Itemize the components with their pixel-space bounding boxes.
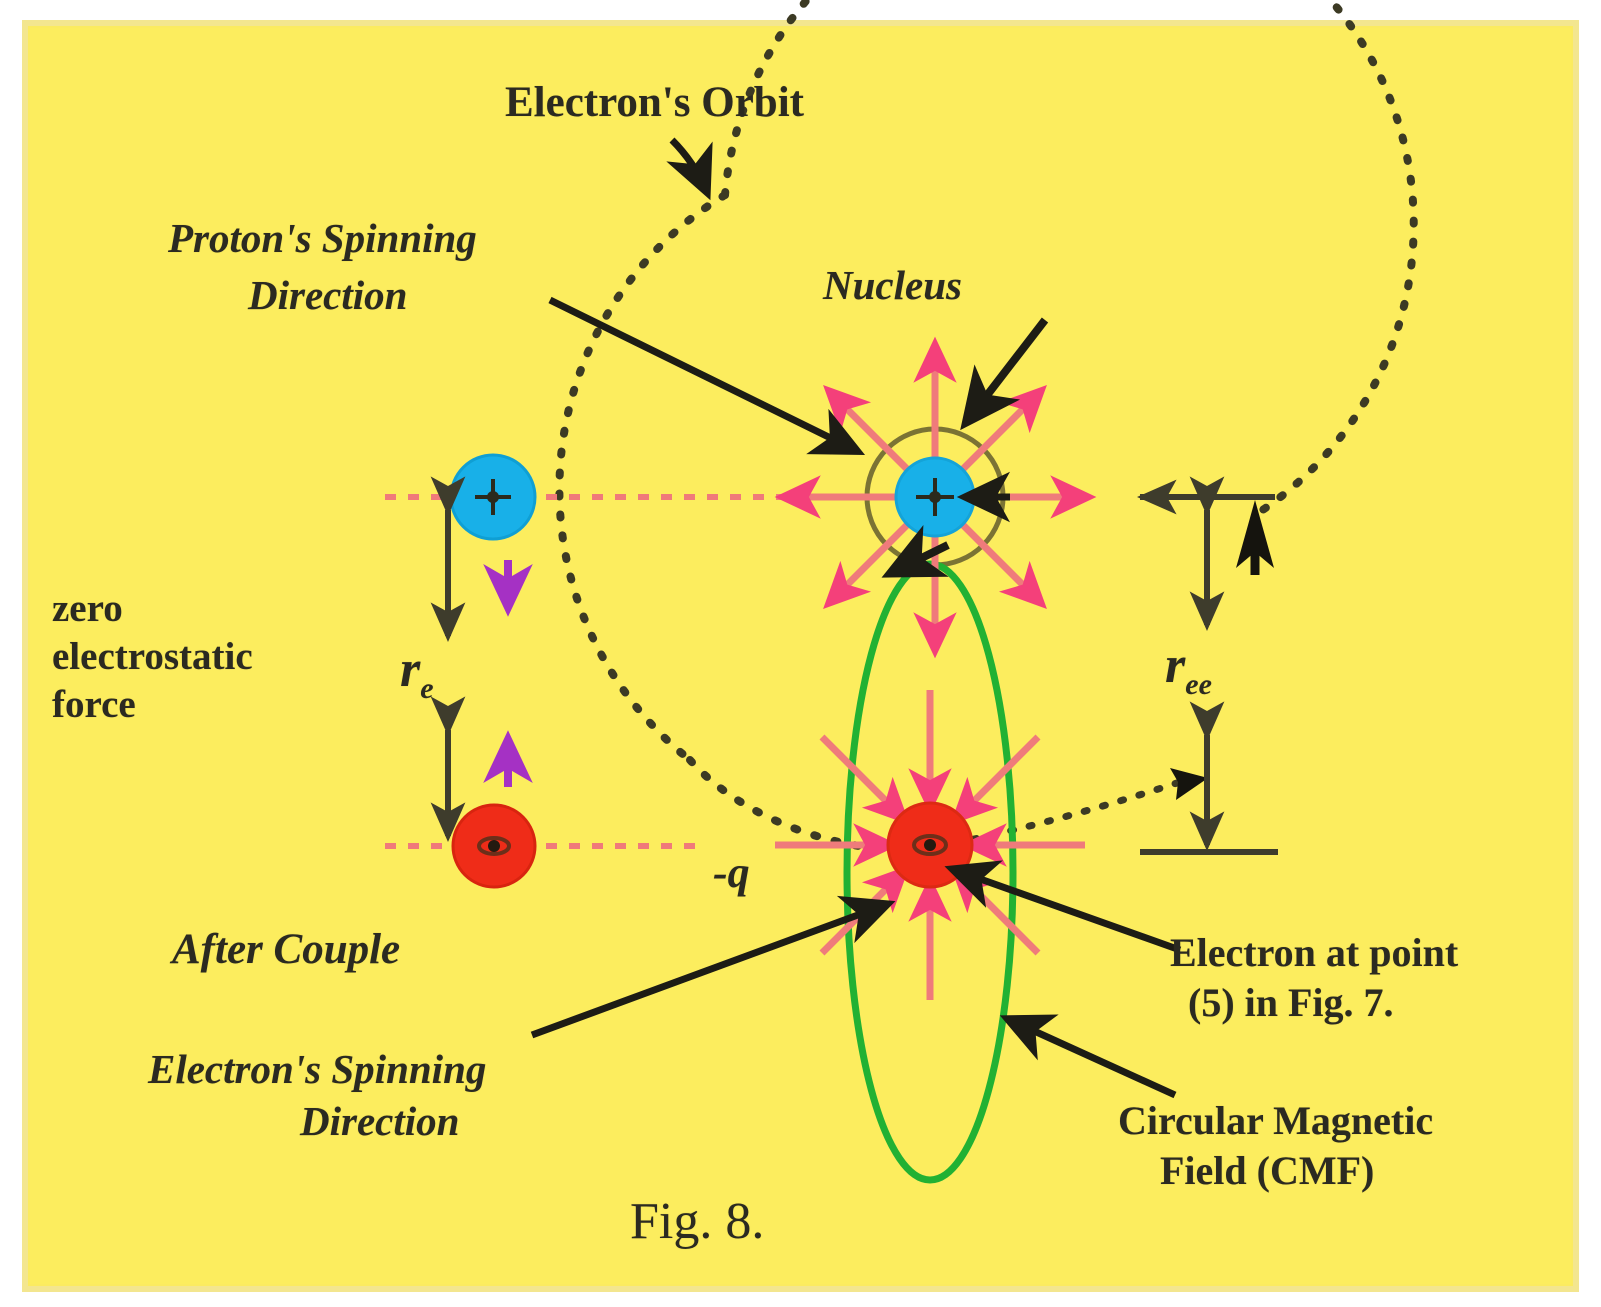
label-re-base: r bbox=[400, 641, 420, 698]
leader-electron-spin bbox=[532, 905, 885, 1035]
label-nucleus: Nucleus bbox=[823, 262, 962, 309]
label-ree-sub: ee bbox=[1185, 668, 1212, 701]
label-zero-force-line3: force bbox=[52, 683, 136, 727]
label-re-sub: e bbox=[420, 672, 433, 705]
left-electron bbox=[453, 805, 535, 887]
leader-nucleus bbox=[968, 320, 1045, 420]
label-cmf-line1: Circular Magnetic bbox=[1118, 1098, 1433, 1144]
electron-orbit-path bbox=[559, 0, 1413, 849]
leader-proton-spin bbox=[550, 300, 855, 450]
label-electron-spin-line2: Direction bbox=[300, 1098, 459, 1145]
label-zero-force-line1: zero bbox=[52, 587, 123, 631]
label-electron-point-line1: Electron at point bbox=[1170, 930, 1458, 976]
label-electron-orbit: Electron's Orbit bbox=[505, 78, 804, 127]
electrostatic-axis-lines bbox=[385, 497, 905, 846]
leader-electron-point bbox=[955, 870, 1180, 950]
label-ree-base: r bbox=[1165, 637, 1185, 694]
label-proton-spin-line2: Direction bbox=[248, 272, 407, 319]
label-electron-spin-line1: Electron's Spinning bbox=[148, 1046, 486, 1093]
label-minus-q: -q bbox=[713, 848, 750, 898]
leader-cmf bbox=[1010, 1020, 1175, 1095]
leader-electron-orbit bbox=[672, 140, 706, 190]
label-zero-force-line2: electrostatic bbox=[52, 635, 253, 679]
nucleus-proton bbox=[896, 458, 974, 536]
label-ree: ree bbox=[1165, 636, 1212, 695]
label-after-couple: After Couple bbox=[172, 925, 400, 974]
left-proton bbox=[451, 455, 535, 539]
figure-stage: Electron's Orbit Proton's Spinning Direc… bbox=[0, 0, 1601, 1307]
label-cmf-line2: Field (CMF) bbox=[1160, 1148, 1374, 1194]
label-proton-spin-line1: Proton's Spinning bbox=[168, 215, 477, 262]
label-re: re bbox=[400, 640, 434, 699]
figure-caption: Fig. 8. bbox=[630, 1192, 764, 1251]
label-electron-point-line2: (5) in Fig. 7. bbox=[1188, 980, 1394, 1026]
